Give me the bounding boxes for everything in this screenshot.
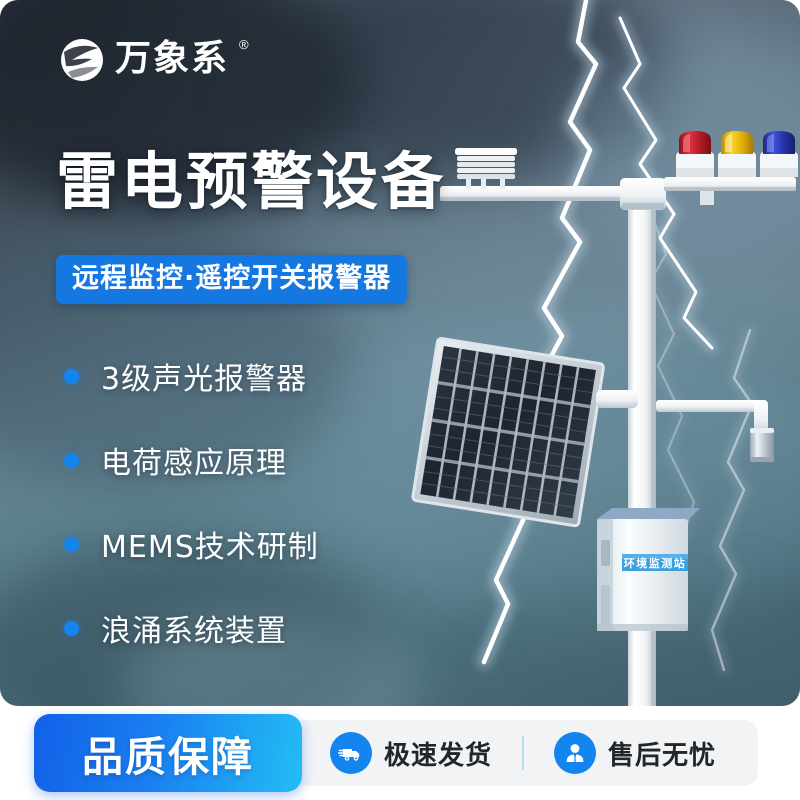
- brand-logo: 万象系 ®: [58, 36, 249, 84]
- customer-support-icon: [554, 732, 596, 774]
- trust-items: 极速发货 售后无忧: [330, 720, 758, 786]
- trademark-symbol: ®: [239, 36, 249, 54]
- trust-divider: [522, 736, 524, 770]
- delivery-truck-icon: [330, 732, 372, 774]
- quality-assurance-label: 品质保障: [82, 723, 254, 783]
- product-promo-poster: 环境监测站 万象系 ® 雷电预警设备 远程监控·遥控开关报警器 3级声光报警器 …: [0, 0, 800, 800]
- feature-label: MEMS技术研制: [101, 522, 319, 566]
- list-item: 电荷感应原理: [64, 429, 319, 491]
- bullet-dot-icon: [64, 453, 79, 468]
- brand-name: 万象系: [115, 36, 229, 82]
- page-title: 雷电预警设备: [56, 145, 446, 219]
- trust-item-label: 极速发货: [384, 735, 492, 772]
- trust-item-label: 售后无忧: [608, 735, 716, 772]
- trust-item-aftersales: 售后无忧: [554, 732, 716, 774]
- quality-assurance-badge: 品质保障: [34, 714, 302, 792]
- storm-cloud: [430, 580, 800, 706]
- feature-list: 3级声光报警器 电荷感应原理 MEMS技术研制 浪涌系统装置: [64, 345, 319, 659]
- feature-label: 电荷感应原理: [101, 438, 287, 482]
- subtitle-badge: 远程监控·遥控开关报警器: [56, 255, 407, 304]
- lightning-bolt-faint-right: [690, 330, 800, 670]
- swirl-sphere-icon: [58, 36, 106, 84]
- lightning-bolt-main: [470, 0, 690, 690]
- bullet-dot-icon: [64, 369, 79, 384]
- feature-label: 3级声光报警器: [101, 354, 307, 398]
- trust-bar: 品质保障: [0, 706, 800, 800]
- lightning-bolt-faint-center: [630, 210, 750, 540]
- feature-label: 浪涌系统装置: [101, 606, 287, 650]
- list-item: 浪涌系统装置: [64, 597, 319, 659]
- storm-cloud: [330, 330, 800, 630]
- list-item: 3级声光报警器: [64, 345, 319, 407]
- lightning-bolt-branch: [600, 18, 790, 348]
- bullet-dot-icon: [64, 621, 79, 636]
- bullet-dot-icon: [64, 537, 79, 552]
- trust-item-shipping: 极速发货: [330, 732, 492, 774]
- storm-cloud: [560, 40, 800, 260]
- list-item: MEMS技术研制: [64, 513, 319, 575]
